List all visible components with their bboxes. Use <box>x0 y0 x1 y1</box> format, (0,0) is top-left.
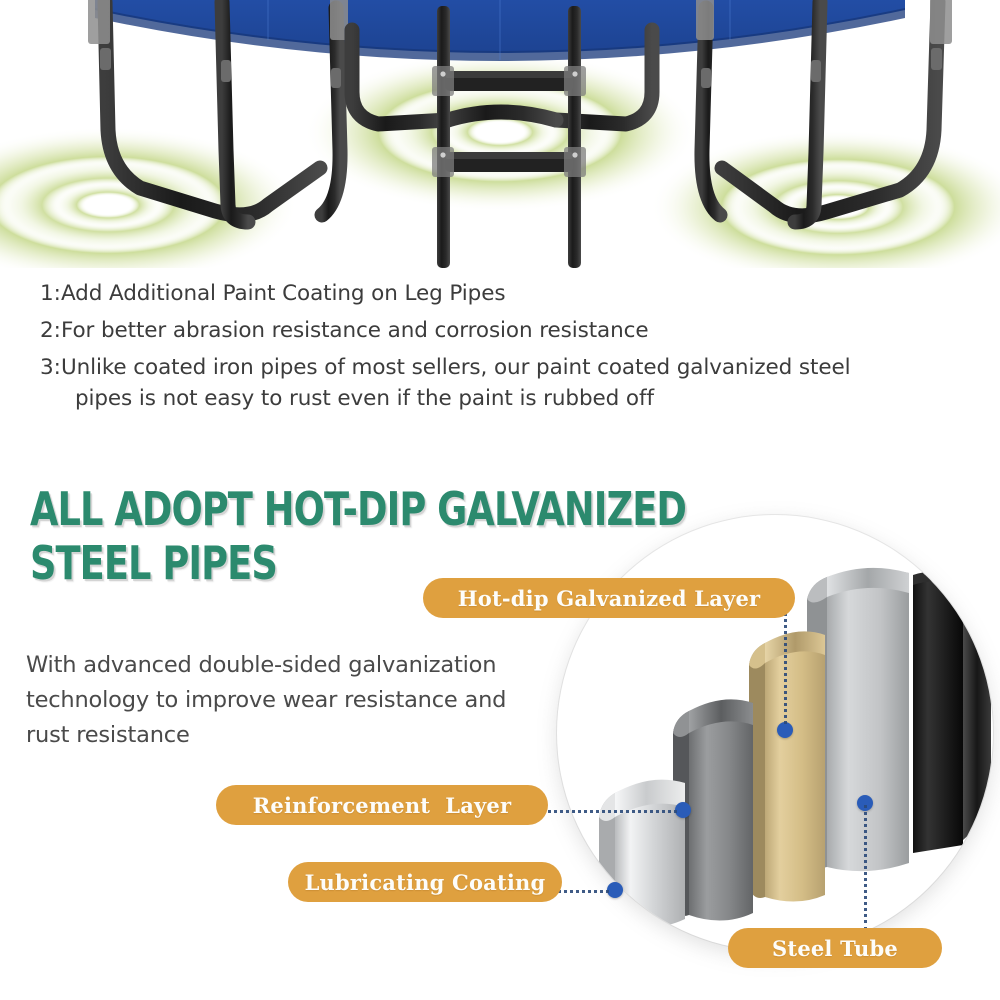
layer-steel-tube <box>913 571 991 853</box>
feature-number: 3: <box>40 352 61 383</box>
callout-lubricating-coating[interactable]: Lubricating Coating <box>288 862 562 902</box>
marker-dot-reinforcement <box>675 802 691 818</box>
ladder-step <box>445 71 573 91</box>
feature-list: 1: Add Additional Paint Coating on Leg P… <box>0 270 1000 430</box>
callout-hot-dip-galvanized-layer[interactable]: Hot-dip Galvanized Layer <box>423 578 795 618</box>
feature-item-1: 1: Add Additional Paint Coating on Leg P… <box>40 278 974 309</box>
section-description: With advanced double-sided galvanization… <box>26 648 546 753</box>
headline-line-1: ALL ADOPT HOT-DIP GALVANIZED <box>30 482 606 536</box>
callout-label: Hot-dip Galvanized Layer <box>458 586 761 611</box>
feature-text: Add Additional Paint Coating on Leg Pipe… <box>61 278 505 309</box>
layer-galvanized <box>749 631 825 901</box>
marker-dot-galvanized <box>777 722 793 738</box>
callout-label: Reinforcement Layer <box>253 793 511 818</box>
connector-steel-tube <box>864 805 867 930</box>
feature-item-3: 3: Unlike coated iron pipes of most sell… <box>40 352 974 414</box>
feature-number: 2: <box>40 315 61 346</box>
pipe-layer-diagram <box>545 505 1000 967</box>
callout-label: Steel Tube <box>772 936 898 961</box>
feature-text-continued: pipes is not easy to rust even if the pa… <box>61 383 851 414</box>
connector-galvanized <box>784 601 787 724</box>
ladder-step <box>445 152 573 172</box>
feature-number: 1: <box>40 278 61 309</box>
trampoline-illustration <box>0 0 1000 268</box>
marker-dot-lubricating <box>607 882 623 898</box>
callout-reinforcement-layer[interactable]: Reinforcement Layer <box>216 785 548 825</box>
trampoline-legs-photo <box>0 0 1000 268</box>
callout-label: Lubricating Coating <box>305 870 546 895</box>
feature-text: Unlike coated iron pipes of most sellers… <box>61 352 851 414</box>
feature-item-2: 2: For better abrasion resistance and co… <box>40 315 974 346</box>
feature-text: For better abrasion resistance and corro… <box>61 315 649 346</box>
callout-steel-tube[interactable]: Steel Tube <box>728 928 942 968</box>
layer-lubricating <box>599 780 685 928</box>
